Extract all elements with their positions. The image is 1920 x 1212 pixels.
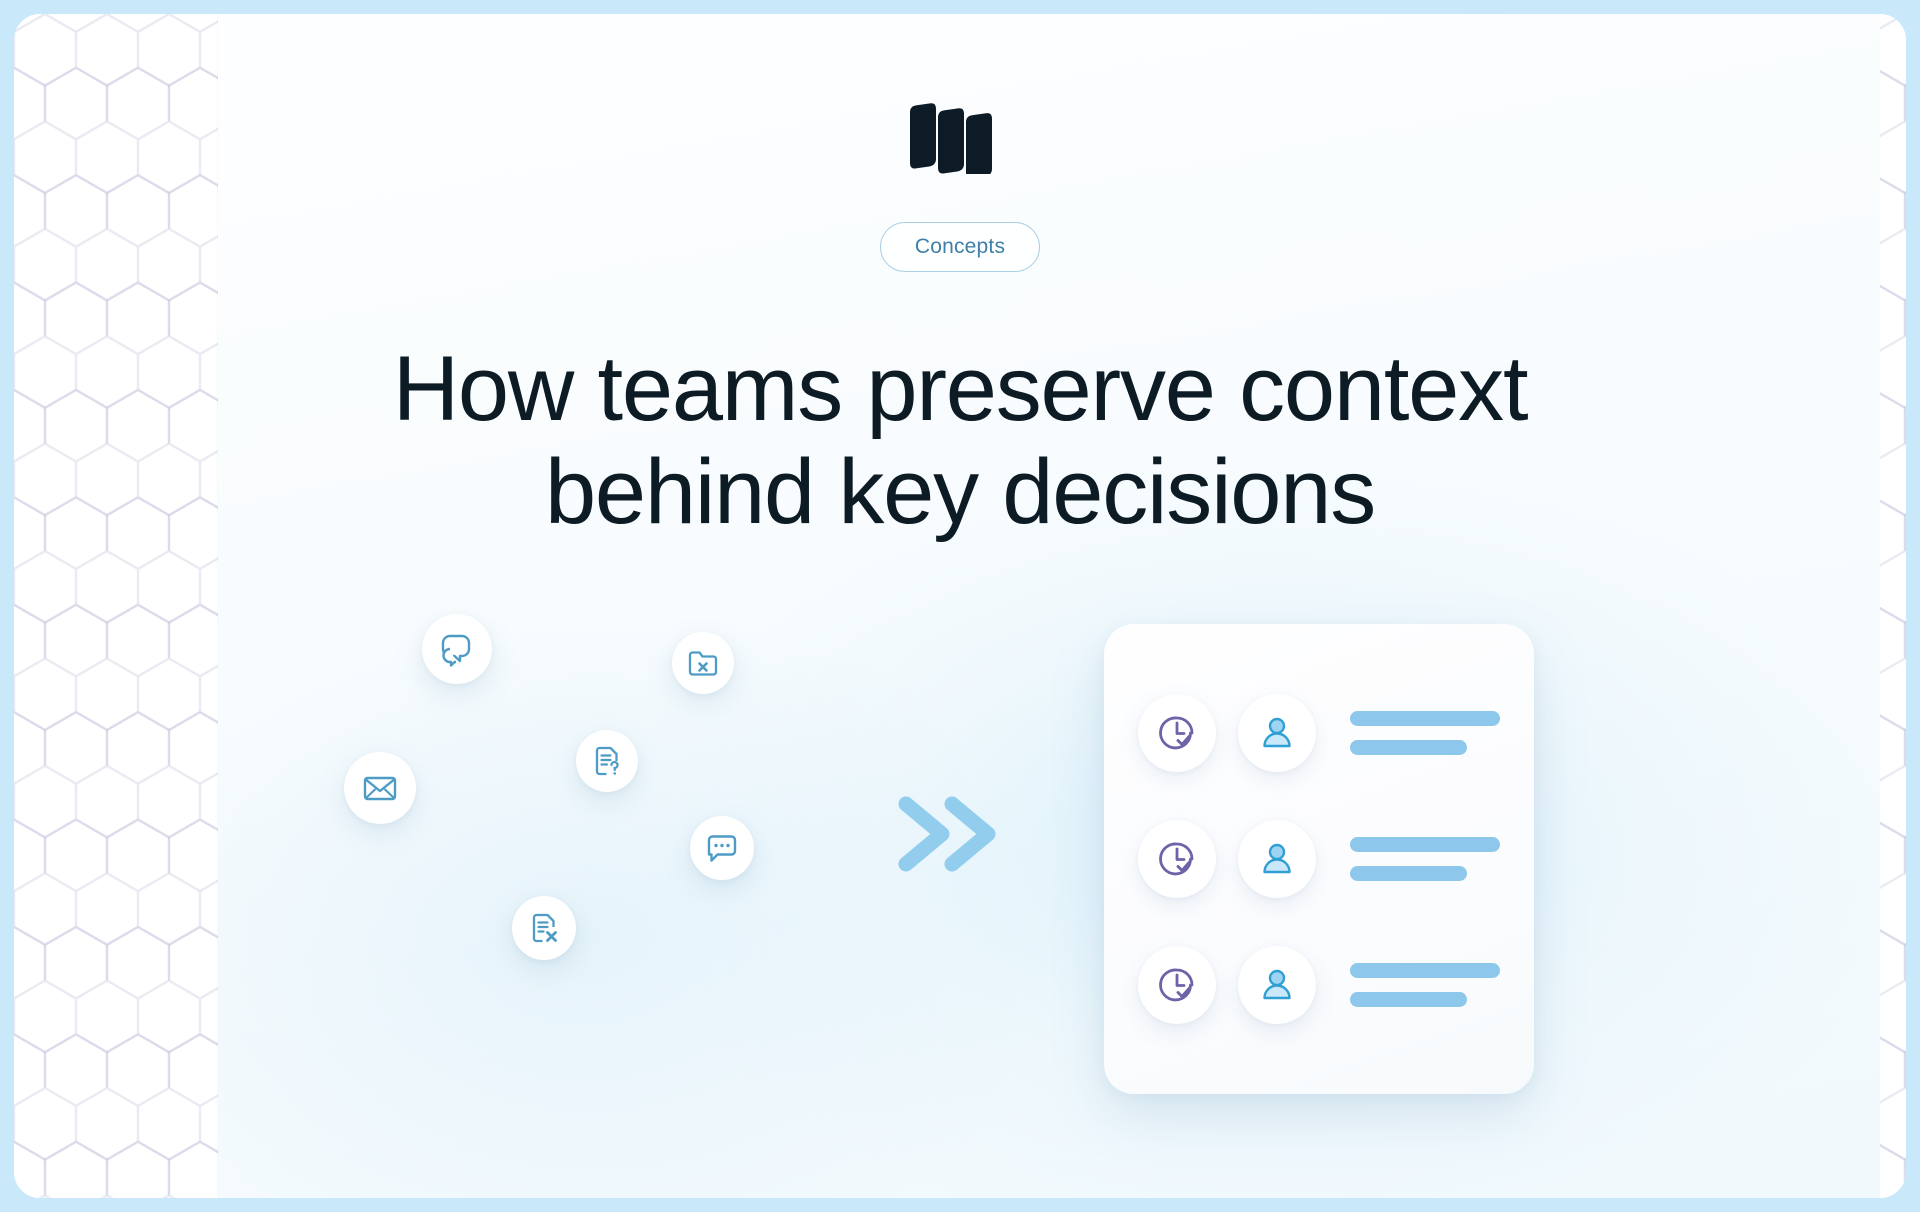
double-chevron-right-icon [890,774,1010,894]
page-title: How teams preserve context behind key de… [315,338,1605,544]
row-bars [1350,963,1500,1007]
row-bars [1350,837,1500,881]
table-row [1138,685,1500,781]
bar-long [1350,963,1500,978]
envelope-icon [344,752,416,824]
illustration [14,604,1906,1124]
header: Concepts How teams preserve context behi… [14,98,1906,544]
table-row [1138,811,1500,907]
bar-long [1350,837,1500,852]
person-icon [1238,946,1316,1024]
clock-check-icon [1138,694,1216,772]
brand-logo [908,98,1012,174]
bar-short [1350,992,1467,1007]
comment-dots-icon [690,816,754,880]
page-root: Concepts How teams preserve context behi… [0,0,1920,1212]
person-icon [1238,694,1316,772]
title-line-1: How teams preserve context [393,338,1528,440]
clock-check-icon [1138,946,1216,1024]
concepts-badge[interactable]: Concepts [880,222,1040,272]
bar-long [1350,711,1500,726]
folder-x-icon [672,632,734,694]
rounded-frame: Concepts How teams preserve context behi… [14,14,1906,1198]
bar-short [1350,866,1467,881]
clock-check-icon [1138,820,1216,898]
chat-bubbles-icon [422,614,492,684]
decisions-card [1104,624,1534,1094]
document-x-icon [512,896,576,960]
row-bars [1350,711,1500,755]
bar-short [1350,740,1467,755]
title-line-2: behind key decisions [545,441,1375,543]
person-icon [1238,820,1316,898]
table-row [1138,937,1500,1033]
badge-label: Concepts [915,235,1005,259]
document-question-icon [576,730,638,792]
